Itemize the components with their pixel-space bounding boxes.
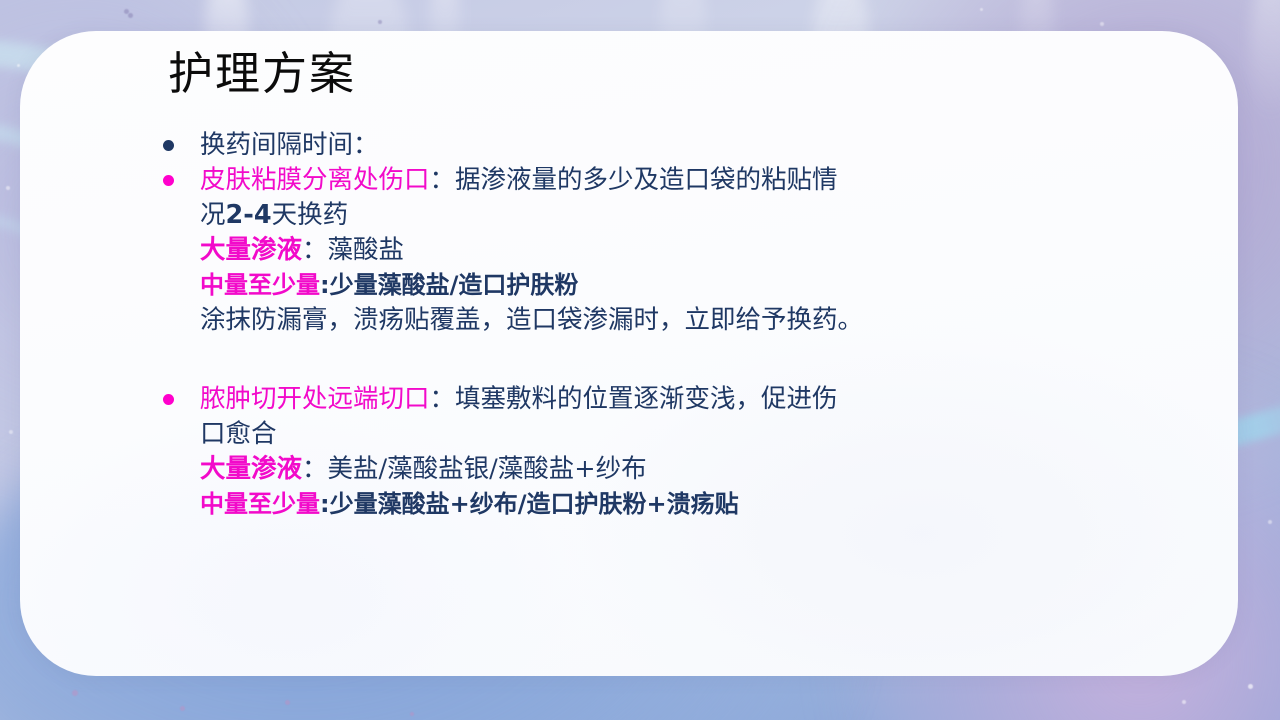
heading-separator: ： [430, 165, 456, 195]
exudate-moderate-separator: : [320, 271, 330, 299]
wound-desc-part2: 口愈合 [200, 417, 1280, 452]
bullet-heading-line-2: 况2-4天换药 [200, 198, 1280, 233]
exudate-heavy-line: 大量渗液：美盐/藻酸盐银/藻酸盐+纱布 [200, 452, 1280, 487]
exudate-moderate-line: 中量至少量:少量藻酸盐+纱布/造口护肤粉+溃疡贴 [200, 487, 1280, 522]
bullet-item-mucocutaneous-separation: 皮肤粘膜分离处伤口：据渗液量的多少及造口袋的粘贴情 况2-4天换药 大量渗液：藻… [0, 163, 1280, 338]
background-bokeh-dot [180, 706, 185, 711]
exudate-heavy-separator: ： [302, 454, 328, 484]
wound-type-label: 脓肿切开处远端切口 [200, 384, 430, 414]
exudate-heavy-label: 大量渗液 [200, 235, 302, 265]
section-spacer [0, 338, 1280, 382]
background-bokeh-dot [285, 700, 290, 705]
background-bokeh-dot [980, 8, 983, 11]
exudate-moderate-label: 中量至少量 [200, 271, 320, 299]
background-bokeh-dot [128, 13, 133, 18]
background-bokeh-dot [1182, 700, 1186, 704]
wound-desc-part1: 填塞敷料的位置逐渐变浅，促进伤 [455, 384, 838, 414]
bullet-dot-icon [163, 394, 174, 405]
bullet-dot-icon [163, 175, 174, 186]
exudate-heavy-value: 美盐/藻酸盐银/藻酸盐+纱布 [328, 454, 647, 484]
slide-body: 换药间隔时间： 皮肤粘膜分离处伤口：据渗液量的多少及造口袋的粘贴情 况2-4天换… [0, 128, 1280, 522]
bullet-text: 换药间隔时间： [200, 128, 1280, 163]
background-bokeh-dot [124, 9, 129, 14]
background-bokeh-dot [410, 712, 414, 716]
heading-separator: ： [430, 384, 456, 414]
exudate-moderate-value: 少量藻酸盐+纱布/造口护肤粉+溃疡贴 [330, 490, 739, 518]
bullet-item-dressing-interval: 换药间隔时间： [0, 128, 1280, 163]
wound-type-label: 皮肤粘膜分离处伤口 [200, 165, 430, 195]
exudate-moderate-value: 少量藻酸盐/造口护肤粉 [330, 271, 579, 299]
background-bokeh-dot [1248, 684, 1253, 689]
leak-note-line: 涂抹防漏膏，溃疡贴覆盖，造口袋渗漏时，立即给予换药。 [200, 303, 1280, 338]
bullet-heading-line: 脓肿切开处远端切口：填塞敷料的位置逐渐变浅，促进伤 [200, 382, 1280, 417]
exudate-moderate-line: 中量至少量:少量藻酸盐/造口护肤粉 [200, 268, 1280, 303]
bullet-item-abscess-distal-incision: 脓肿切开处远端切口：填塞敷料的位置逐渐变浅，促进伤 口愈合 大量渗液：美盐/藻酸… [0, 382, 1280, 522]
exudate-heavy-label: 大量渗液 [200, 454, 302, 484]
exudate-heavy-line: 大量渗液：藻酸盐 [200, 233, 1280, 268]
page-title: 护理方案 [168, 47, 356, 102]
exudate-heavy-separator: ： [302, 235, 328, 265]
dressing-change-days: 2-4 [226, 200, 272, 230]
wound-desc-suffix: 天换药 [272, 200, 349, 230]
background-bokeh-dot [1100, 22, 1104, 26]
bullet-heading-line: 皮肤粘膜分离处伤口：据渗液量的多少及造口袋的粘贴情 [200, 163, 1280, 198]
background-bokeh-dot [378, 20, 382, 24]
exudate-moderate-label: 中量至少量 [200, 490, 320, 518]
bullet-dot-icon [163, 140, 174, 151]
slide-root: 护理方案 换药间隔时间： 皮肤粘膜分离处伤口：据渗液量的多少及造口袋的粘贴情 况… [0, 0, 1280, 720]
exudate-heavy-value: 藻酸盐 [328, 235, 405, 265]
wound-desc-prefix: 况 [200, 200, 226, 230]
wound-desc-part1: 据渗液量的多少及造口袋的粘贴情 [455, 165, 838, 195]
background-bokeh-dot [17, 64, 20, 67]
background-bokeh-dot [72, 690, 78, 696]
exudate-moderate-separator: : [320, 490, 330, 518]
